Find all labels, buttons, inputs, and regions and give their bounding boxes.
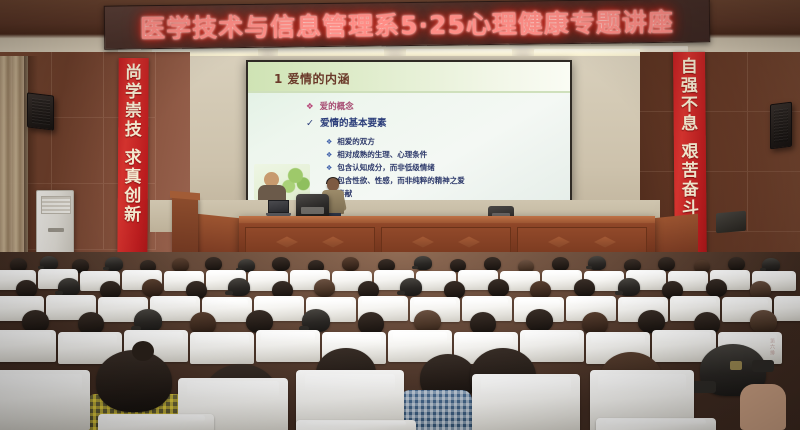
equipment-case [296,194,329,218]
bullet-text: 爱情的基本要素 [320,118,387,129]
banner-char: 求 [124,149,141,168]
audience-head [658,257,675,271]
banner-char: 真 [124,168,141,187]
bullet-text: 包含认知成分，而非低级情绪 [337,163,435,172]
seat [190,332,254,364]
banner-char: 崇 [125,102,142,121]
seat [98,414,214,430]
projection-screen: 1 爱情的内涵 ❖爱的概念 ✓爱情的基本要素 ❖相爱的双方 ❖相对成熟的生理、心… [246,60,572,204]
audience-head [314,279,335,297]
banner-char: 不 [681,96,698,115]
lectern [172,195,198,259]
audience-head [105,257,123,271]
slide-bullet-l2: ❖包含认知成分，而非低级情绪 [326,162,435,173]
audience-head [58,278,80,296]
banner-char: 新 [124,206,141,225]
audience-head [526,309,553,332]
seat [0,370,90,430]
seat [520,330,584,362]
bullet-text: 相爱的双方 [337,137,375,146]
wall-speaker-right-icon [770,102,792,150]
banner-char: 苦 [681,162,698,181]
audience-head [96,350,172,412]
slide-bullet-l2: ❖相对成熟的生理、心理条件 [326,149,427,160]
check-marker-icon: ✓ [306,118,314,129]
banner-char: 创 [124,187,141,206]
lecture-hall-photo: 医学技术与信息管理系5·25心理健康专题讲座 尚 学 崇 技 求 真 创 新 自… [0,0,800,430]
seat [774,296,800,321]
air-conditioner-unit [36,190,74,260]
audience-head [552,257,569,271]
left-vertical-banner: 尚 学 崇 技 求 真 创 新 [117,58,148,270]
laptop [266,200,291,216]
bullet-marker-icon: ❖ [306,102,314,112]
audience-head [302,309,330,332]
audience-head [484,257,501,271]
audience-head [205,257,222,271]
bullet-text: 相对成熟的生理、心理条件 [337,150,427,159]
slide-bullet-l2: ❖包含性欲、性感，而非纯粹的精神之爱 [326,175,465,186]
audience-head [342,257,359,271]
audience-head [488,279,509,297]
banner-char: 尚 [125,64,142,83]
slide-title: 1 爱情的内涵 [274,70,350,87]
audience-head [228,278,250,296]
slide-bullet-l1: ✓爱情的基本要素 [306,115,386,129]
audience-head [272,257,290,271]
audience-head [400,278,422,296]
bullet-marker-icon: ❖ [326,151,332,159]
bullet-text: 包含性欲、性感，而非纯粹的精神之爱 [337,176,465,185]
slide-bullet-l1: ❖爱的概念 [306,100,354,112]
banner-char: 学 [125,83,142,102]
banner-char: 艰 [681,143,698,162]
seat-label: 第六排 [769,338,776,356]
audience-head [618,278,640,296]
audience-head [588,256,606,270]
audience-seating: 第六排 [0,252,800,430]
banner-char: 奋 [682,181,699,200]
audience-head [706,279,727,297]
led-banner-text: 医学技术与信息管理系5·25心理健康专题讲座 [140,3,674,46]
table-top-surface [239,216,655,223]
audience-head [574,279,595,297]
audience-head [750,310,777,333]
bullet-marker-icon: ❖ [326,164,332,172]
seat [256,330,320,362]
banner-char: 技 [125,121,142,140]
seat [472,374,580,430]
av-equipment-right [716,211,746,234]
banner-char: 自 [681,58,698,77]
audience-head [762,258,780,272]
ac-grille [41,196,71,214]
audience-head [134,309,162,332]
slide-body: ❖爱的概念 ✓爱情的基本要素 ❖相爱的双方 ❖相对成熟的生理、心理条件 ❖包含认… [248,95,570,202]
audience-head [414,256,432,270]
audience-head [728,257,745,271]
projected-slide: 1 爱情的内涵 ❖爱的概念 ✓爱情的基本要素 ❖相爱的双方 ❖相对成熟的生理、心… [248,62,570,202]
seat [0,330,56,362]
bullet-marker-icon: ❖ [326,138,332,146]
audience-neck [740,384,786,430]
slide-bullet-l2: ❖相爱的双方 [326,136,375,147]
bullet-text: 爱的概念 [320,102,354,112]
seat [596,418,716,430]
led-banner: 医学技术与信息管理系5·25心理健康专题讲座 [104,0,710,50]
seat [296,420,416,430]
ac-logo [48,228,64,232]
wall-speaker-left-icon [27,92,54,130]
banner-char: 强 [681,77,698,96]
audience-head [172,258,189,272]
audience-head [142,279,163,297]
audience-head [40,256,58,270]
banner-char: 息 [681,115,698,134]
